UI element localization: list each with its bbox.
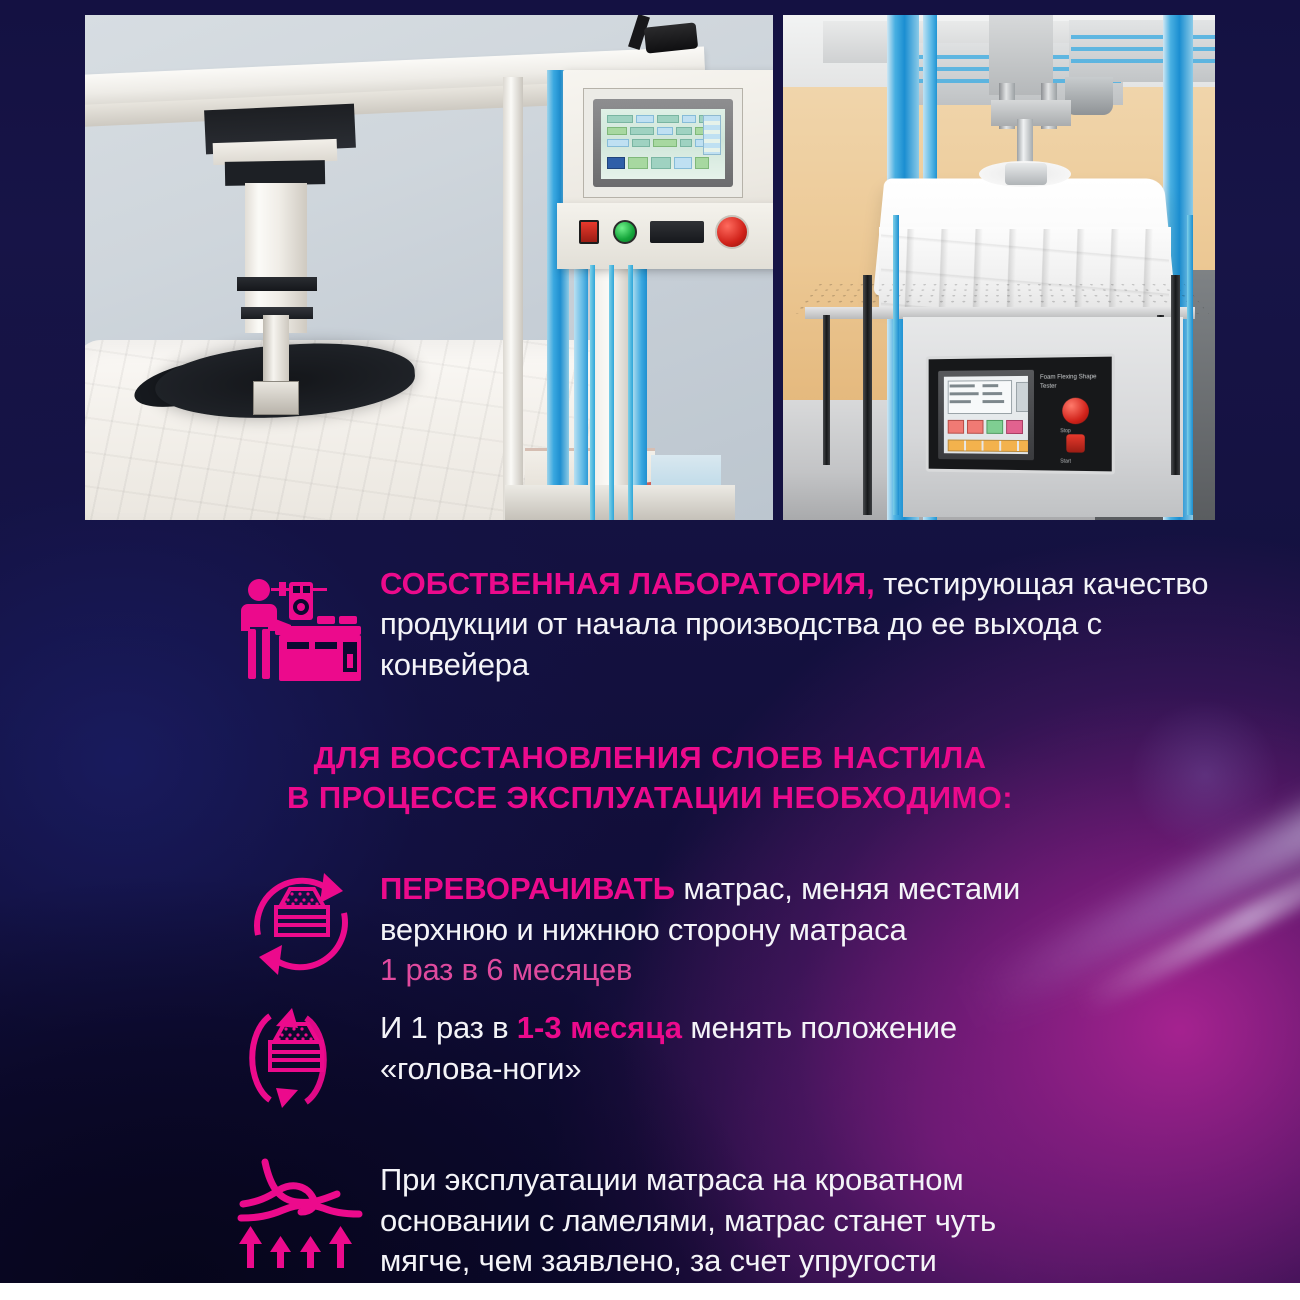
photo-right-press-shaft [1017, 119, 1033, 165]
content-area: СОБСТВЕННАЯ ЛАБОРАТОРИЯ, тестирующая кач… [0, 520, 1300, 1300]
rotate-pre: И 1 раз в [380, 1010, 517, 1045]
section-title: ДЛЯ ВОССТАНОВЛЕНИЯ СЛОЕВ НАСТИЛА В ПРОЦЕ… [0, 738, 1300, 817]
mattress-flip-icon [240, 863, 362, 985]
slats-icon-wrap [222, 1146, 380, 1270]
photo-left-pneumatic-tube-5 [628, 265, 633, 520]
photo-left-frame-post-white [503, 77, 523, 520]
photo-left-selector-switch [650, 221, 704, 243]
flip-bold-lead: ПЕРЕВОРАЧИВАТЬ [380, 871, 675, 906]
rotate-icon-wrap [222, 1002, 380, 1114]
lab-text-col: СОБСТВЕННАЯ ЛАБОРАТОРИЯ, тестирующая кач… [380, 564, 1300, 685]
tip-slats-elasticity: При эксплуатации матраса на кроватном ос… [222, 1146, 1300, 1300]
photo-right-arm-right-stripes [1071, 35, 1215, 65]
lab-block: СОБСТВЕННАЯ ЛАБОРАТОРИЯ, тестирующая кач… [222, 564, 1300, 686]
photo-left-start-button [613, 220, 637, 244]
slats-text-col: При эксплуатации матраса на кроватном ос… [380, 1146, 1300, 1300]
lab-paragraph: СОБСТВЕННАЯ ЛАБОРАТОРИЯ, тестирующая кач… [380, 564, 1240, 685]
photo-left-bracket-lower [225, 160, 325, 186]
flip-note: 1 раз в 6 месяцев [380, 950, 1070, 990]
photo-right-platen-leg-1 [823, 315, 830, 465]
flip-paragraph: ПЕРЕВОРАЧИВАТЬ матрас, меняя местами вер… [380, 869, 1070, 950]
photo-right-hose-1 [893, 215, 899, 515]
page-root: HOFFEN [0, 0, 1300, 1300]
tips-list: ПЕРЕВОРАЧИВАТЬ матрас, меняя местами вер… [0, 863, 1300, 1300]
section-title-line-1: ДЛЯ ВОССТАНОВЛЕНИЯ СЛОЕВ НАСТИЛА [150, 738, 1150, 778]
rotate-text-col: И 1 раз в 1-3 месяца менять положение «г… [380, 1002, 1300, 1089]
photo-right-support-rod-right [1171, 275, 1180, 475]
rotate-bold-mid: 1-3 месяца [517, 1010, 682, 1045]
photo-left-frame-base [505, 485, 735, 520]
photo-right-emergency-stop-button [1062, 398, 1089, 424]
photo-left-power-switch [579, 220, 599, 244]
mattress-indentation-tester-photo: HOFFEN [85, 15, 773, 520]
photo-right-motor-drum [1065, 77, 1113, 115]
slats-elasticity-icon [235, 1146, 367, 1270]
mattress-rotate-head-feet-icon [240, 1002, 362, 1114]
foam-hardness-tester-photo: Foam Flexing Shape Tester Stop Start [783, 15, 1215, 520]
photo-strip: HOFFEN [85, 15, 1215, 520]
photo-left-hmi-screen [601, 109, 725, 179]
photo-right-start-button [1066, 434, 1084, 452]
photo-left-column-ring-1 [237, 277, 317, 291]
photo-left-press-foot [253, 381, 299, 415]
photo-right-hose-2 [1187, 215, 1193, 515]
photo-right-start-label: Start [1060, 458, 1071, 464]
photo-right-hmi-bezel [938, 370, 1034, 460]
photo-left-cable-connector [644, 22, 698, 53]
photo-right-hmi-screen [944, 376, 1028, 454]
photo-right-control-panel: Foam Flexing Shape Tester Stop Start [926, 353, 1115, 474]
flip-text-col: ПЕРЕВОРАЧИВАТЬ матрас, меняя местами вер… [380, 863, 1300, 990]
slats-paragraph: При эксплуатации матраса на кроватном ос… [380, 1160, 1050, 1300]
flip-icon-wrap [222, 863, 380, 985]
lab-worker-icon [235, 574, 367, 686]
lab-icon-wrap [222, 564, 380, 686]
photo-right-support-rod-left [863, 275, 872, 515]
photo-left-pneumatic-tube-3 [590, 265, 595, 520]
photo-left-emergency-stop-button [715, 215, 749, 249]
photo-right-control-panel-title: Foam Flexing Shape Tester [1040, 373, 1114, 392]
photo-left-pneumatic-tube-4 [609, 265, 614, 520]
bottom-white-strip [0, 1283, 1300, 1300]
section-title-line-2: В ПРОЦЕССЕ ЭКСПЛУАТАЦИИ НЕОБХОДИМО: [150, 778, 1150, 818]
tip-rotate-head-feet: И 1 раз в 1-3 месяца менять положение «г… [222, 1002, 1300, 1114]
tip-flip-mattress: ПЕРЕВОРАЧИВАТЬ матрас, меняя местами вер… [222, 863, 1300, 990]
photo-right-indentor-foot [1005, 163, 1047, 185]
lab-headline: СОБСТВЕННАЯ ЛАБОРАТОРИЯ, [380, 566, 875, 601]
rotate-paragraph: И 1 раз в 1-3 месяца менять положение «г… [380, 1008, 1070, 1089]
